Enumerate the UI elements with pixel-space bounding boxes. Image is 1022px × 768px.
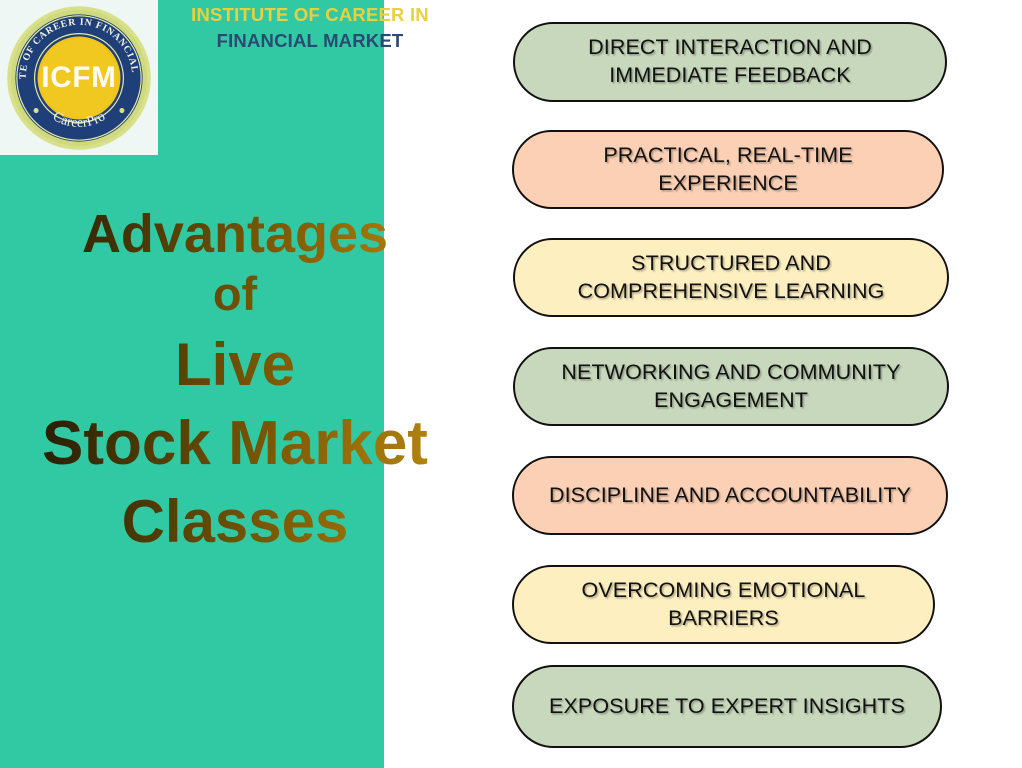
title-line-1: Advantages (0, 206, 470, 263)
page-title: Advantages of Live Stock Market Classes (0, 206, 470, 554)
brand-line-primary: INSTITUTE OF CAREER IN (160, 4, 460, 26)
title-line-2: of (0, 269, 470, 319)
advantage-pill[interactable]: PRACTICAL, REAL-TIME EXPERIENCE (512, 130, 944, 209)
advantages-list: DIRECT INTERACTION AND IMMEDIATE FEEDBAC… (512, 22, 952, 762)
advantage-pill[interactable]: EXPOSURE TO EXPERT INSIGHTS (512, 665, 942, 748)
advantage-pill[interactable]: DIRECT INTERACTION AND IMMEDIATE FEEDBAC… (513, 22, 947, 102)
advantage-pill-label: NETWORKING AND COMMUNITY ENGAGEMENT (541, 359, 921, 414)
advantage-pill-label: OVERCOMING EMOTIONAL BARRIERS (540, 577, 907, 632)
icfm-circular-seal-logo: INSTITUTE OF CAREER IN FINANCIAL MARKET … (5, 4, 153, 152)
title-line-4: Stock Market (0, 411, 470, 477)
brand-line-secondary: FINANCIAL MARKET (160, 30, 460, 52)
advantage-pill-label: DIRECT INTERACTION AND IMMEDIATE FEEDBAC… (541, 34, 919, 89)
advantage-pill[interactable]: STRUCTURED AND COMPREHENSIVE LEARNING (513, 238, 949, 317)
advantage-pill-label: EXPOSURE TO EXPERT INSIGHTS (549, 693, 905, 721)
advantage-pill[interactable]: OVERCOMING EMOTIONAL BARRIERS (512, 565, 935, 644)
title-line-5: Classes (0, 490, 470, 554)
advantage-pill[interactable]: NETWORKING AND COMMUNITY ENGAGEMENT (513, 347, 949, 426)
logo-container: INSTITUTE OF CAREER IN FINANCIAL MARKET … (0, 0, 158, 155)
advantage-pill[interactable]: DISCIPLINE AND ACCOUNTABILITY (512, 456, 948, 535)
svg-text:ICFM: ICFM (41, 60, 116, 93)
brand-header: INSTITUTE OF CAREER IN FINANCIAL MARKET (160, 4, 460, 52)
advantage-pill-label: DISCIPLINE AND ACCOUNTABILITY (549, 482, 911, 510)
title-line-3: Live (0, 333, 470, 397)
advantage-pill-label: STRUCTURED AND COMPREHENSIVE LEARNING (541, 250, 921, 305)
advantage-pill-label: PRACTICAL, REAL-TIME EXPERIENCE (540, 142, 916, 197)
